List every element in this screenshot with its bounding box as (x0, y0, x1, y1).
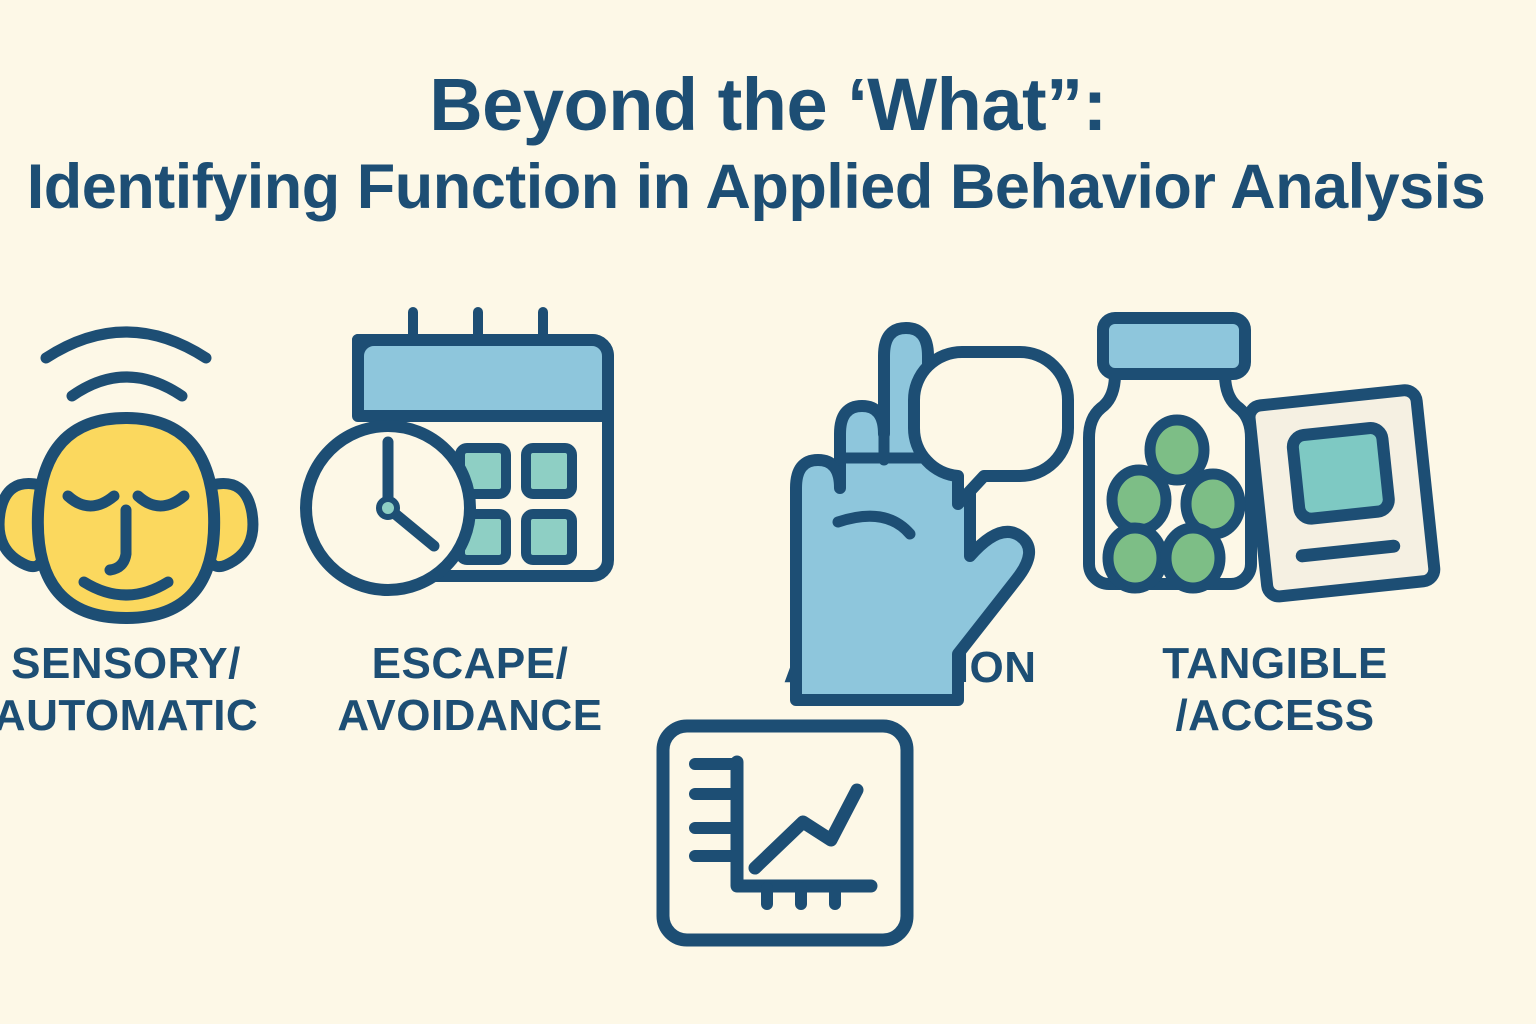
clock-center-dot (379, 499, 397, 517)
page-title-line-1: Beyond the ‘What”: (0, 62, 1536, 148)
line-chart-icon (655, 718, 915, 948)
calendar-header-bar (358, 340, 608, 416)
infographic-canvas: Beyond the ‘What”: Identifying Function … (0, 0, 1536, 1024)
function-column-attention: ATTENTION (740, 300, 1080, 694)
column-label-tangible: TANGIBLE /ACCESS (1085, 638, 1465, 742)
label-line-2: /ACCESS (1085, 690, 1465, 742)
calendar-with-clock-icon (300, 300, 640, 620)
function-column-sensory: SENSORY/ AUTOMATIC (0, 300, 276, 742)
function-column-escape: ESCAPE/ AVOIDANCE (300, 300, 640, 742)
reward-card (1248, 389, 1435, 598)
jar-with-tokens-and-card-icon (1085, 300, 1465, 620)
column-label-escape: ESCAPE/ AVOIDANCE (300, 638, 640, 742)
page-title-line-2: Identifying Function in Applied Behavior… (0, 148, 1536, 226)
sensory-wave-outer (46, 332, 206, 358)
label-line-2: AVOIDANCE (300, 690, 640, 742)
column-label-sensory: SENSORY/ AUTOMATIC (0, 638, 276, 742)
label-line-1: ESCAPE/ (300, 638, 640, 690)
token-jar (1089, 318, 1251, 588)
label-line-1: SENSORY/ (0, 638, 276, 690)
jar-lid (1103, 318, 1245, 374)
function-column-tangible: TANGIBLE /ACCESS (1085, 300, 1465, 742)
label-line-2: AUTOMATIC (0, 690, 276, 742)
face-with-sensory-waves-icon (0, 300, 276, 620)
title-block: Beyond the ‘What”: Identifying Function … (0, 62, 1536, 226)
card-screen (1292, 427, 1390, 520)
raised-hand-with-speech-bubble-icon (740, 300, 1080, 620)
label-line-1: TANGIBLE (1085, 638, 1465, 690)
sensory-wave-inner (72, 377, 182, 396)
